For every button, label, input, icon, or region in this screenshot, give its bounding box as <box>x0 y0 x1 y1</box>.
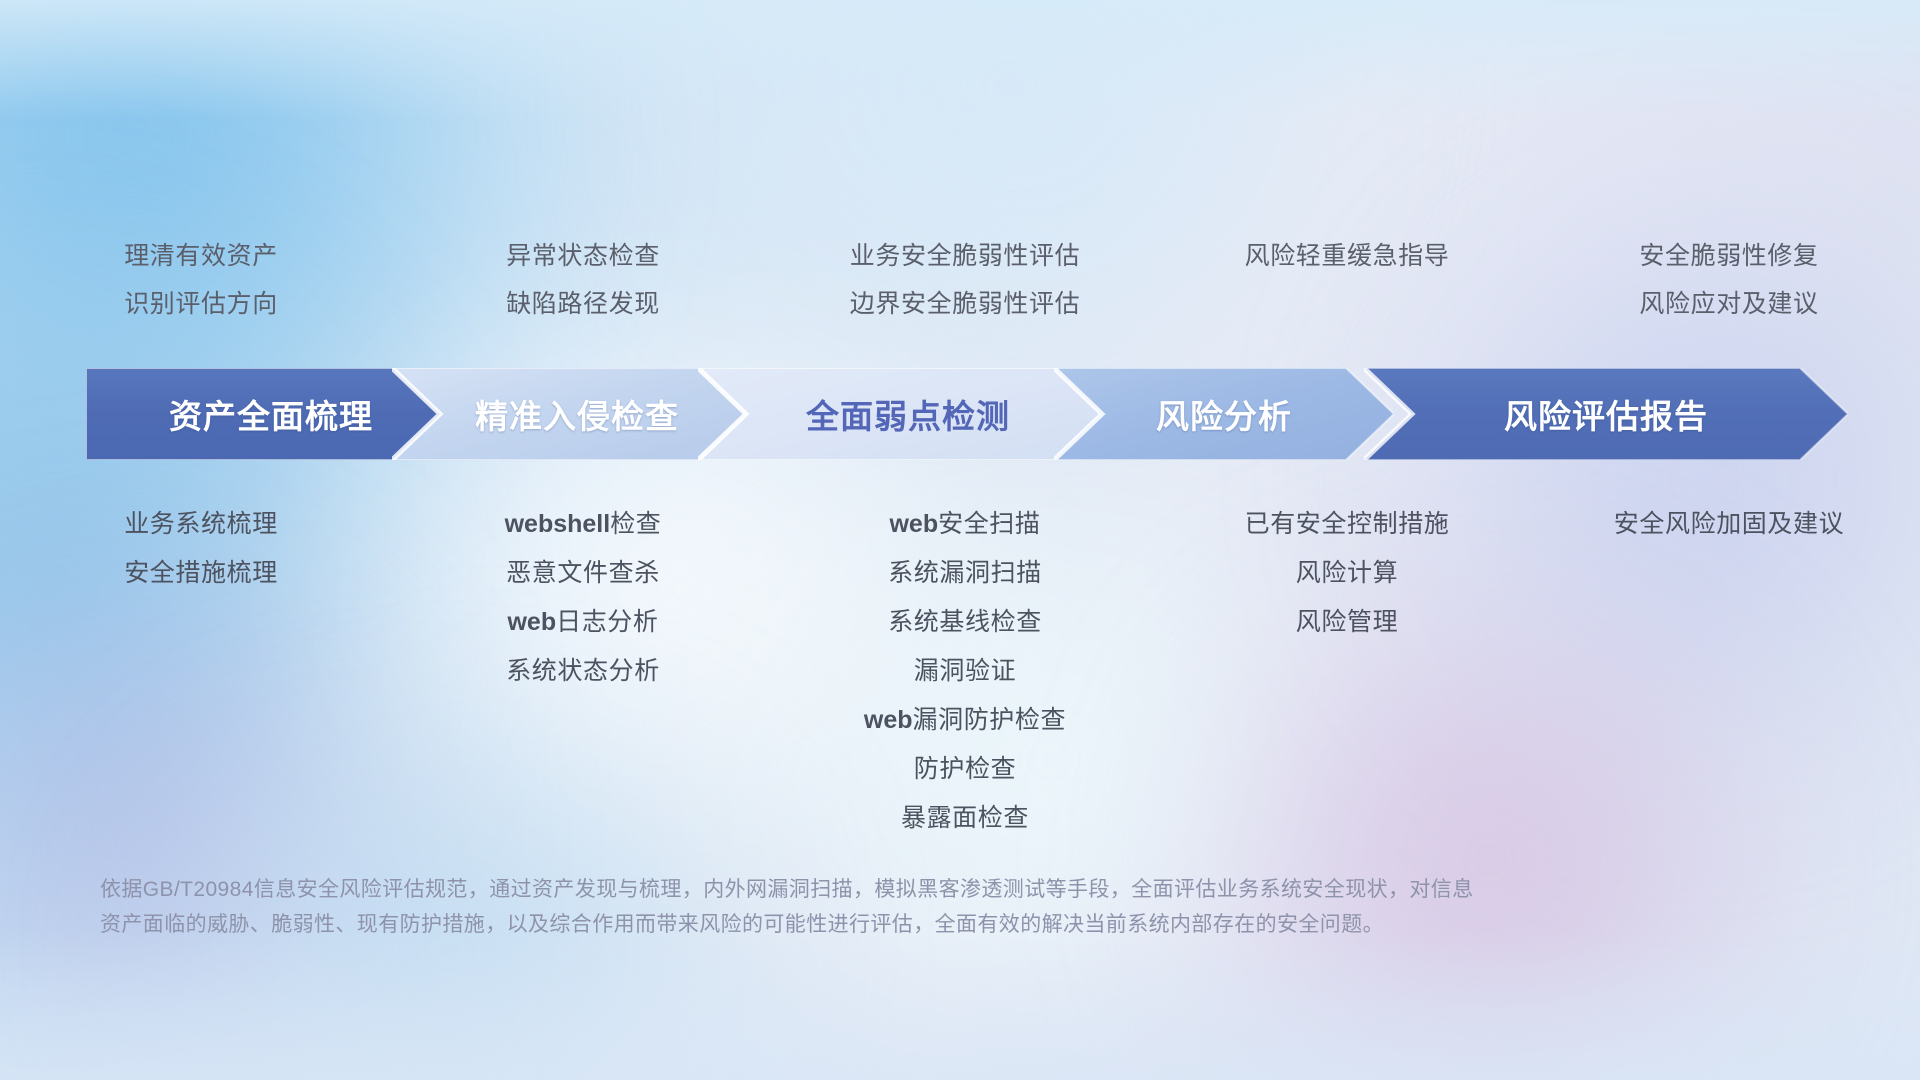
chevron-label: 全面弱点检测 <box>806 390 1010 438</box>
bottom-point: 漏洞验证 <box>914 647 1016 696</box>
top-points-row: 理清有效资产 识别评估方向 异常状态检查 缺陷路径发现 业务安全脆弱性评估 边界… <box>0 232 1920 342</box>
bottom-point: 风险管理 <box>1296 598 1398 647</box>
bottom-point-text: 安全扫描 <box>938 510 1040 538</box>
bottom-point: 系统漏洞扫描 <box>888 549 1042 598</box>
bottom-point-keyword: web <box>889 510 938 538</box>
bottom-point: web安全扫描 <box>889 500 1040 549</box>
bottom-point-text: 恶意文件查杀 <box>506 559 660 587</box>
bottom-points-asset-inventory: 业务系统梳理 安全措施梳理 <box>0 500 392 598</box>
bottom-point: webshell检查 <box>505 500 662 549</box>
chevron-stage-risk-analysis[interactable]: 风险分析 <box>1054 368 1394 460</box>
top-points-risk-report: 安全脆弱性修复 风险应对及建议 <box>1538 232 1920 342</box>
top-point: 缺陷路径发现 <box>506 280 660 328</box>
bottom-point-text: 暴露面检查 <box>901 804 1029 832</box>
bottom-point-text: 安全风险加固及建议 <box>1614 510 1844 538</box>
bottom-point: web日志分析 <box>507 598 658 647</box>
bottom-point: 防护检查 <box>914 745 1016 794</box>
bottom-point: 安全措施梳理 <box>124 549 278 598</box>
top-point: 异常状态检查 <box>506 232 660 280</box>
top-points-intrusion-check: 异常状态检查 缺陷路径发现 <box>392 232 774 342</box>
chevron-label: 风险评估报告 <box>1504 390 1708 438</box>
chevron-label: 资产全面梳理 <box>169 390 373 438</box>
bottom-point-text: 风险管理 <box>1296 608 1398 636</box>
bottom-point-text: 安全措施梳理 <box>124 559 278 587</box>
top-points-weakness-detection: 业务安全脆弱性评估 边界安全脆弱性评估 <box>774 232 1156 342</box>
chevron-stage-risk-report[interactable]: 风险评估报告 <box>1364 368 1848 460</box>
chevron-label: 精准入侵检查 <box>475 390 679 438</box>
bottom-points-intrusion-check: webshell检查 恶意文件查杀 web日志分析 系统状态分析 <box>392 500 774 696</box>
bottom-point: 恶意文件查杀 <box>506 549 660 598</box>
footer-description: 依据GB/T20984信息安全风险评估规范，通过资产发现与梳理，内外网漏洞扫描，… <box>100 872 1660 942</box>
top-point: 识别评估方向 <box>124 280 278 328</box>
bottom-point: 业务系统梳理 <box>124 500 278 549</box>
stage-chevron-band: 资产全面梳理 精准入侵检查 <box>86 368 1848 460</box>
bottom-point-text: 系统状态分析 <box>506 657 660 685</box>
top-point: 理清有效资产 <box>124 232 278 280</box>
bottom-point-keyword: web <box>507 608 556 636</box>
process-diagram: 理清有效资产 识别评估方向 异常状态检查 缺陷路径发现 业务安全脆弱性评估 边界… <box>0 0 1920 1080</box>
bottom-point-text: 漏洞防护检查 <box>913 706 1067 734</box>
bottom-point-text: 日志分析 <box>556 608 658 636</box>
bottom-point: 系统基线检查 <box>888 598 1042 647</box>
footer-line-1: 依据GB/T20984信息安全风险评估规范，通过资产发现与梳理，内外网漏洞扫描，… <box>100 872 1660 907</box>
top-points-asset-inventory: 理清有效资产 识别评估方向 <box>0 232 392 342</box>
bottom-point-text: 业务系统梳理 <box>124 510 278 538</box>
bottom-points-risk-analysis: 已有安全控制措施 风险计算 风险管理 <box>1156 500 1538 647</box>
top-point: 业务安全脆弱性评估 <box>850 232 1080 280</box>
bottom-point: web漏洞防护检查 <box>864 696 1066 745</box>
bottom-point: 暴露面检查 <box>901 794 1029 843</box>
bottom-point-keyword: web <box>864 706 913 734</box>
bottom-point-text: 系统漏洞扫描 <box>888 559 1042 587</box>
bottom-point-text: 防护检查 <box>914 755 1016 783</box>
bottom-point-text: 检查 <box>610 510 661 538</box>
bottom-point: 安全风险加固及建议 <box>1614 500 1844 549</box>
top-point: 边界安全脆弱性评估 <box>850 280 1080 328</box>
chevron-label: 风险分析 <box>1156 390 1292 438</box>
bottom-points-risk-report: 安全风险加固及建议 <box>1538 500 1920 549</box>
bottom-point: 已有安全控制措施 <box>1245 500 1450 549</box>
bottom-point-keyword: webshell <box>505 510 611 538</box>
bottom-point-text: 漏洞验证 <box>914 657 1016 685</box>
top-point: 风险轻重缓急指导 <box>1245 232 1450 280</box>
top-point: 安全脆弱性修复 <box>1639 232 1818 280</box>
bottom-point-text: 风险计算 <box>1296 559 1398 587</box>
bottom-point-text: 已有安全控制措施 <box>1245 510 1450 538</box>
bottom-points-weakness-detection: web安全扫描 系统漏洞扫描 系统基线检查 漏洞验证 web漏洞防护检查 防护检… <box>774 500 1156 843</box>
top-points-risk-analysis: 风险轻重缓急指导 <box>1156 232 1538 342</box>
bottom-point-text: 系统基线检查 <box>888 608 1042 636</box>
top-point: 风险应对及建议 <box>1639 280 1818 328</box>
bottom-points-row: 业务系统梳理 安全措施梳理 webshell检查 恶意文件查杀 web日志分析 … <box>0 500 1920 843</box>
bottom-point: 风险计算 <box>1296 549 1398 598</box>
footer-line-2: 资产面临的威胁、脆弱性、现有防护措施，以及综合作用而带来风险的可能性进行评估，全… <box>100 907 1660 942</box>
bottom-point: 系统状态分析 <box>506 647 660 696</box>
